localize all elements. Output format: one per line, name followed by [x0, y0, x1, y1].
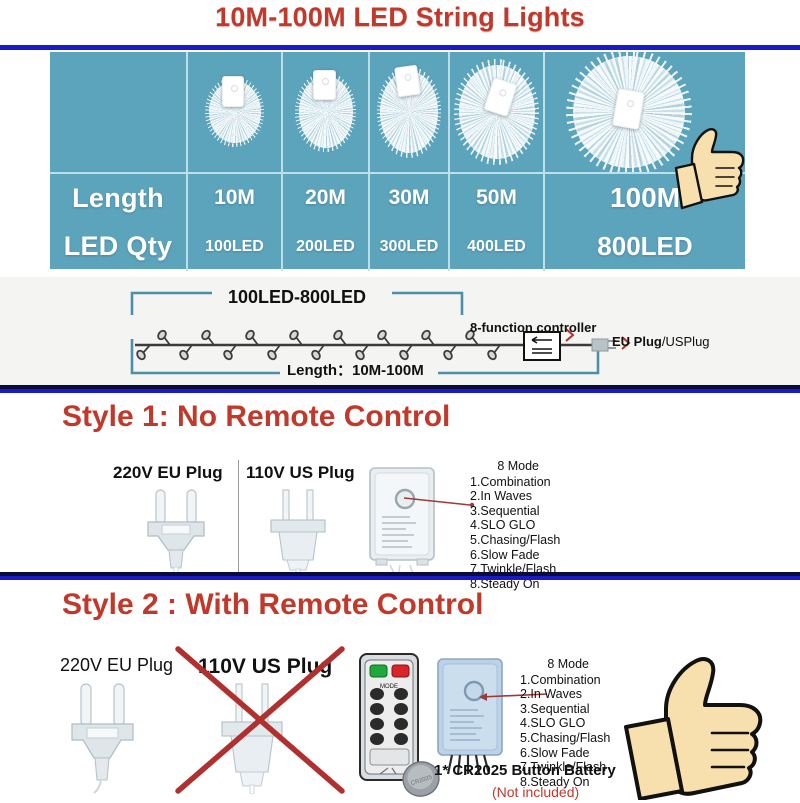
- table-cell-length-1: 20M: [283, 174, 370, 222]
- us-plug-icon: [216, 682, 288, 799]
- table-cell-coil-10m: [188, 52, 283, 172]
- mode-item-1: 1.Combination: [520, 673, 610, 688]
- thumbs-up-icon: [620, 655, 770, 800]
- style2-heading: Style 2 : With Remote Control: [62, 588, 483, 622]
- diagram-length-label: Length：10M-100M: [287, 359, 424, 380]
- spec-table: Length 10M 20M 30M 50M 100M LED Qty: [50, 52, 745, 269]
- style1-us-plug-label: 110V US Plug: [246, 463, 355, 483]
- table-header-qty: LED Qty: [50, 222, 188, 271]
- section-divider-2: [0, 576, 800, 580]
- length-value: 50M: [476, 186, 517, 210]
- table-row-length: Length 10M 20M 30M 50M 100M: [50, 174, 745, 222]
- table-header-length: Length: [50, 174, 188, 222]
- table-cell-length-3: 50M: [450, 174, 545, 222]
- style1-plug-separator: [238, 460, 239, 572]
- mode-item-5: 5.Chasing/Flash: [520, 731, 610, 746]
- table-cell-qty-1: 200LED: [283, 222, 370, 271]
- string-light-diagram: 100LED-800LED Length：10M-100M 8-function…: [0, 277, 800, 385]
- mode-item-5: 5.Chasing/Flash: [470, 533, 560, 548]
- table-header-qty-label: LED Qty: [64, 231, 173, 262]
- battery-box-icon: [313, 70, 336, 100]
- page-title: 10M-100M LED String Lights: [0, 2, 800, 33]
- style2-modes-title: 8 Mode: [520, 657, 610, 672]
- qty-value: 100LED: [205, 238, 264, 256]
- style1-modes-title: 8 Mode: [470, 459, 560, 474]
- thumbs-up-icon: [672, 124, 750, 214]
- battery-label: 1* CR2025 Button Battery: [434, 762, 616, 779]
- header-divider: [0, 45, 800, 50]
- table-cell-coil-50m: [450, 52, 545, 172]
- table-cell-length-2: 30M: [370, 174, 450, 222]
- mode-item-3: 3.Sequential: [470, 504, 560, 519]
- qty-value: 300LED: [380, 238, 439, 256]
- mode-item-1: 1.Combination: [470, 475, 560, 490]
- battery-box-icon: [394, 65, 421, 98]
- diagram-plug-label: EU Plug/USPlug: [612, 334, 710, 349]
- us-plug-icon: [265, 488, 331, 579]
- mode-item-4: 4.SLO GLO: [520, 716, 610, 731]
- qty-value: 200LED: [296, 238, 355, 256]
- style1-heading: Style 1: No Remote Control: [62, 400, 450, 434]
- length-value: 10M: [214, 186, 255, 210]
- mode-item-4: 4.SLO GLO: [470, 518, 560, 533]
- infographic-page: 10M-100M LED String Lights: [0, 0, 800, 800]
- table-cell-coil-20m: [283, 52, 370, 172]
- mode-item-3: 3.Sequential: [520, 702, 610, 717]
- mode-item-2: 2.In Waves: [520, 687, 610, 702]
- table-header-length-label: Length: [72, 183, 164, 214]
- controller-box-icon: [366, 466, 440, 583]
- style2-us-plug-label: 110V US Plug: [198, 655, 332, 679]
- mode-item-6: 6.Slow Fade: [470, 548, 560, 563]
- table-cell-length-0: 10M: [188, 174, 283, 222]
- length-value: 30M: [389, 186, 430, 210]
- table-cell-qty-4: 800LED: [545, 222, 745, 271]
- qty-value: 800LED: [597, 231, 692, 262]
- battery-not-included-note: (Not included): [492, 784, 579, 800]
- diagram-led-range-label: 100LED-800LED: [228, 287, 366, 308]
- length-value: 20M: [305, 186, 346, 210]
- table-cell-empty: [50, 52, 188, 172]
- diagram-controller-label: 8-function controller: [470, 320, 596, 335]
- battery-box-icon: [222, 76, 244, 107]
- diagram-plug-label-bold: EU Plug: [612, 334, 662, 349]
- mode-item-2: 2.In Waves: [470, 489, 560, 504]
- table-cell-qty-2: 300LED: [370, 222, 450, 271]
- table-row-images: [50, 52, 745, 174]
- section-divider-1: [0, 389, 800, 393]
- svg-text:MODE: MODE: [380, 684, 398, 690]
- diagram-plug-label-rest: /USPlug: [662, 334, 710, 349]
- table-cell-qty-0: 100LED: [188, 222, 283, 271]
- eu-plug-icon: [140, 488, 212, 579]
- length-value: 100M: [610, 182, 680, 214]
- table-cell-qty-3: 400LED: [450, 222, 545, 271]
- style1-eu-plug-label: 220V EU Plug: [113, 463, 223, 483]
- style2-eu-plug-label: 220V EU Plug: [60, 655, 173, 676]
- eu-plug-icon: [64, 682, 140, 799]
- table-cell-coil-30m: [370, 52, 450, 172]
- qty-value: 400LED: [467, 238, 526, 256]
- table-row-qty: LED Qty 100LED 200LED 300LED 400LED 800L…: [50, 222, 745, 271]
- mode-item-6: 6.Slow Fade: [520, 746, 610, 761]
